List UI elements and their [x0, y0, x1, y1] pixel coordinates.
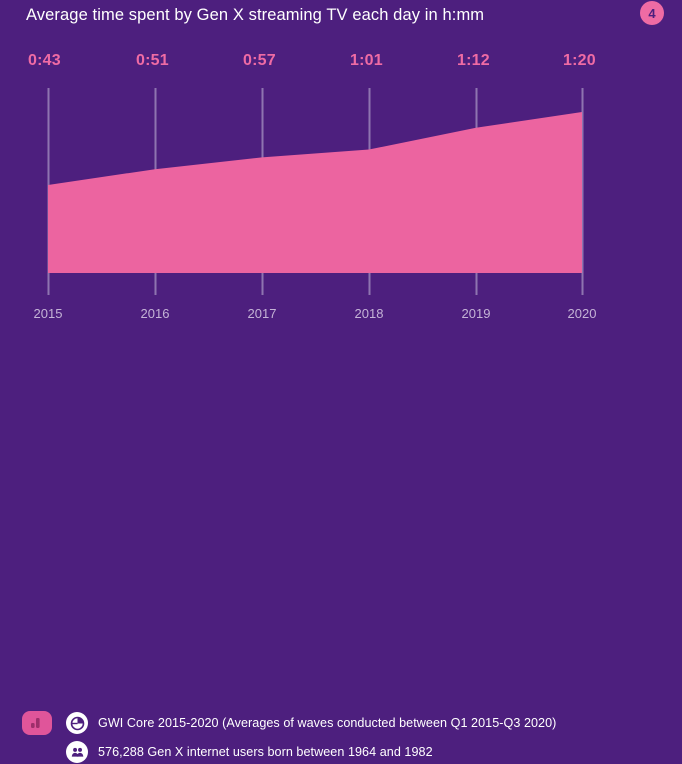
- people-group-glyph: [70, 745, 85, 760]
- x-tick-2020: 2020: [568, 306, 597, 321]
- page-title: Average time spent by Gen X streaming TV…: [26, 6, 484, 25]
- audience-note-text: 576,288 Gen X internet users born betwee…: [98, 745, 433, 759]
- area-series-path: [48, 112, 582, 273]
- chart-page: Average time spent by Gen X streaming TV…: [0, 0, 682, 418]
- x-tick-2019: 2019: [462, 306, 491, 321]
- value-label-2019: 1:12: [457, 52, 490, 70]
- value-label-2015: 0:43: [28, 52, 61, 70]
- chart-plot-area: 0:43 0:51 0:57 1:01 1:12 1:20: [0, 42, 682, 312]
- x-tick-2017: 2017: [248, 306, 277, 321]
- audience-note-row: 576,288 Gen X internet users born betwee…: [66, 740, 433, 764]
- x-tick-2018: 2018: [355, 306, 384, 321]
- people-group-icon: [66, 741, 88, 763]
- chart-header: Average time spent by Gen X streaming TV…: [0, 0, 682, 42]
- bar-chart-glyph: [30, 717, 44, 729]
- x-tick-2015: 2015: [34, 306, 63, 321]
- bar-chart-icon: [22, 711, 52, 735]
- value-label-2018: 1:01: [350, 52, 383, 70]
- value-label-2020: 1:20: [563, 52, 596, 70]
- x-tick-2016: 2016: [141, 306, 170, 321]
- value-label-2016: 0:51: [136, 52, 169, 70]
- source-note-text: GWI Core 2015-2020 (Averages of waves co…: [98, 716, 556, 730]
- value-label-2017: 0:57: [243, 52, 276, 70]
- x-axis: 2015 2016 2017 2018 2019 2020: [0, 300, 682, 330]
- chart-footer: GWI Core 2015-2020 (Averages of waves co…: [0, 350, 682, 418]
- slide-number-badge: 4: [640, 1, 664, 25]
- pie-chart-icon: [66, 712, 88, 734]
- pie-chart-glyph: [70, 716, 85, 731]
- source-note-row: GWI Core 2015-2020 (Averages of waves co…: [66, 711, 556, 735]
- area-chart-svg: [0, 42, 682, 312]
